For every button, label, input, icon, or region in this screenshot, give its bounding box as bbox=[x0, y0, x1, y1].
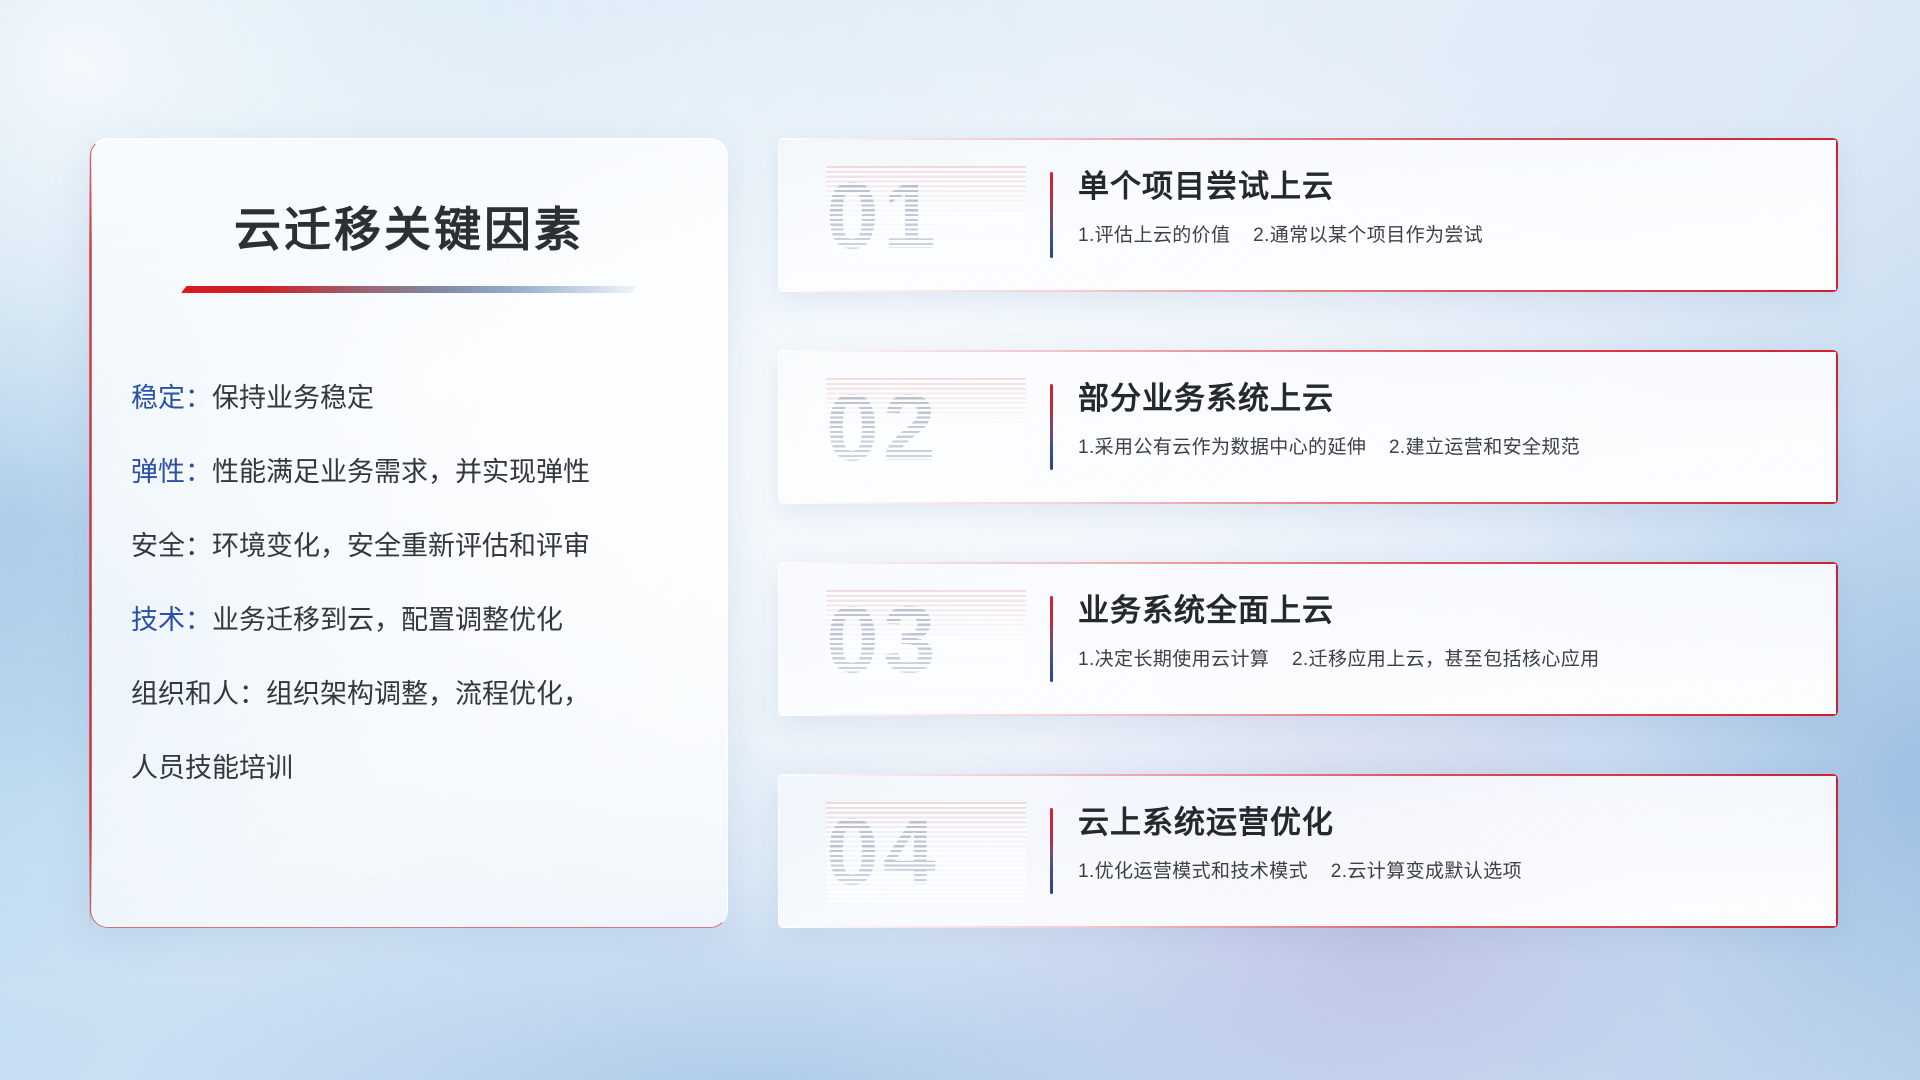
panel-title: 云迁移关键因素 bbox=[91, 191, 727, 260]
factor-row: 安全：环境变化，安全重新评估和评审 bbox=[131, 509, 683, 583]
step-number-glyph: 03 bbox=[826, 590, 1026, 690]
card-top-border bbox=[778, 562, 1838, 564]
step-number-glyph: 04 bbox=[826, 802, 1026, 902]
step-card[interactable]: 01单个项目尝试上云1.评估上云的价值 2.通常以某个项目作为尝试 bbox=[778, 138, 1838, 292]
factor-text: 性能满足业务需求，并实现弹性 bbox=[212, 457, 590, 487]
step-title: 单个项目尝试上云 bbox=[1078, 164, 1798, 210]
step-title: 业务系统全面上云 bbox=[1078, 588, 1798, 634]
card-bottom-border bbox=[778, 714, 1838, 716]
step-body: 业务系统全面上云1.决定长期使用云计算 2.迁移应用上云，甚至包括核心应用 bbox=[1078, 588, 1798, 674]
factor-row: 人员技能培训 bbox=[131, 731, 683, 805]
step-card[interactable]: 04云上系统运营优化1.优化运营模式和技术模式 2.云计算变成默认选项 bbox=[778, 774, 1838, 928]
card-right-border bbox=[1836, 562, 1838, 716]
card-bottom-border bbox=[778, 290, 1838, 292]
card-left-border bbox=[778, 138, 779, 292]
factor-label: 组织和人： bbox=[131, 679, 266, 709]
card-right-border bbox=[1836, 774, 1838, 928]
step-number: 02 bbox=[826, 378, 1026, 478]
factor-label: 安全： bbox=[131, 531, 212, 561]
factor-text: 业务迁移到云，配置调整优化 bbox=[212, 605, 563, 635]
migration-steps-list: 01单个项目尝试上云1.评估上云的价值 2.通常以某个项目作为尝试02部分业务系… bbox=[778, 138, 1838, 928]
step-number: 04 bbox=[826, 802, 1026, 902]
factor-text: 保持业务稳定 bbox=[212, 383, 374, 413]
factor-label: 稳定： bbox=[131, 383, 212, 413]
card-right-border bbox=[1836, 350, 1838, 504]
card-right-border bbox=[1836, 138, 1838, 292]
step-body: 单个项目尝试上云1.评估上云的价值 2.通常以某个项目作为尝试 bbox=[1078, 164, 1798, 250]
step-body: 云上系统运营优化1.优化运营模式和技术模式 2.云计算变成默认选项 bbox=[1078, 800, 1798, 886]
step-divider-bar bbox=[1050, 384, 1053, 470]
step-description: 1.优化运营模式和技术模式 2.云计算变成默认选项 bbox=[1078, 858, 1798, 886]
step-number-glyph: 01 bbox=[826, 166, 1026, 266]
card-top-border bbox=[778, 774, 1838, 776]
step-divider-bar bbox=[1050, 808, 1053, 894]
factor-label: 弹性： bbox=[131, 457, 212, 487]
card-top-border bbox=[778, 138, 1838, 140]
factor-text: 组织架构调整，流程优化， bbox=[266, 679, 590, 709]
step-description: 1.决定长期使用云计算 2.迁移应用上云，甚至包括核心应用 bbox=[1078, 646, 1798, 674]
step-card[interactable]: 03业务系统全面上云1.决定长期使用云计算 2.迁移应用上云，甚至包括核心应用 bbox=[778, 562, 1838, 716]
card-left-border bbox=[778, 562, 779, 716]
key-factors-panel: 云迁移关键因素 稳定：保持业务稳定弹性：性能满足业务需求，并实现弹性安全：环境变… bbox=[90, 138, 728, 928]
card-bottom-border bbox=[778, 926, 1838, 928]
factor-row: 弹性：性能满足业务需求，并实现弹性 bbox=[131, 435, 683, 509]
card-left-border bbox=[778, 774, 779, 928]
step-divider-bar bbox=[1050, 172, 1053, 258]
card-bottom-border bbox=[778, 502, 1838, 504]
title-underline-rule bbox=[181, 286, 637, 293]
step-number-glyph: 02 bbox=[826, 378, 1026, 478]
step-title: 云上系统运营优化 bbox=[1078, 800, 1798, 846]
factor-row: 组织和人：组织架构调整，流程优化， bbox=[131, 657, 683, 731]
step-title: 部分业务系统上云 bbox=[1078, 376, 1798, 422]
step-card[interactable]: 02部分业务系统上云1.采用公有云作为数据中心的延伸 2.建立运营和安全规范 bbox=[778, 350, 1838, 504]
factor-label: 技术： bbox=[131, 605, 212, 635]
step-description: 1.评估上云的价值 2.通常以某个项目作为尝试 bbox=[1078, 222, 1798, 250]
step-number: 01 bbox=[826, 166, 1026, 266]
step-divider-bar bbox=[1050, 596, 1053, 682]
step-body: 部分业务系统上云1.采用公有云作为数据中心的延伸 2.建立运营和安全规范 bbox=[1078, 376, 1798, 462]
factor-list: 稳定：保持业务稳定弹性：性能满足业务需求，并实现弹性安全：环境变化，安全重新评估… bbox=[91, 361, 727, 805]
factor-text: 环境变化，安全重新评估和评审 bbox=[212, 531, 590, 561]
step-description: 1.采用公有云作为数据中心的延伸 2.建立运营和安全规范 bbox=[1078, 434, 1798, 462]
card-top-border bbox=[778, 350, 1838, 352]
factor-row: 技术：业务迁移到云，配置调整优化 bbox=[131, 583, 683, 657]
card-left-border bbox=[778, 350, 779, 504]
step-number: 03 bbox=[826, 590, 1026, 690]
factor-row: 稳定：保持业务稳定 bbox=[131, 361, 683, 435]
factor-text: 人员技能培训 bbox=[131, 753, 293, 783]
